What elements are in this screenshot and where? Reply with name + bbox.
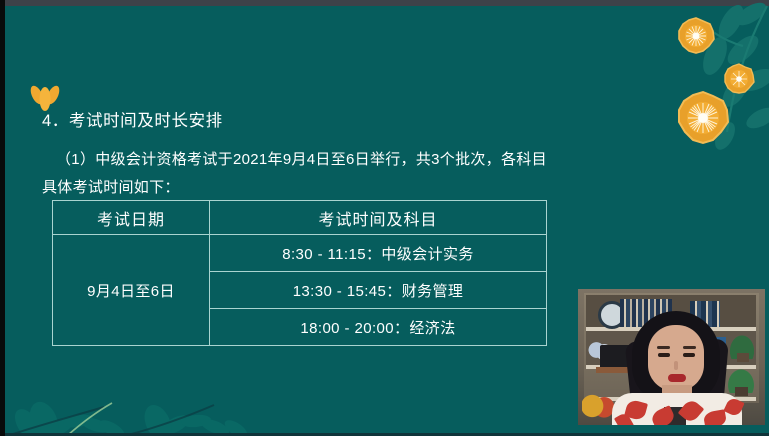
- plant-pot: [737, 353, 749, 362]
- plant-pot: [735, 387, 748, 396]
- left-chrome-strip: [0, 0, 5, 436]
- column-header-date: 考试日期: [53, 201, 210, 235]
- presenter-eye: [683, 353, 695, 357]
- presenter-lips: [668, 374, 686, 382]
- intro-paragraph: （1）中级会计资格考试于2021年9月4日至6日举行，共3个批次，各科目 具体考…: [42, 146, 602, 202]
- cell-exam-date: 9月4日至6日: [53, 235, 210, 346]
- flower-branch-icon: [639, 0, 769, 175]
- top-chrome-strip: [0, 0, 769, 6]
- presentation-slide: 4．考试时间及时长安排 （1）中级会计资格考试于2021年9月4日至6日举行，共…: [0, 0, 769, 436]
- table-header-row: 考试日期 考试时间及科目: [53, 201, 547, 235]
- presenter-video-feed[interactable]: [578, 289, 765, 425]
- fern-foliage-icon: [0, 351, 320, 436]
- paragraph-line-1: （1）中级会计资格考试于2021年9月4日至6日举行，共3个批次，各科目: [42, 146, 602, 174]
- cell-exam-schedule: 8:30 - 11:15：中级会计实务: [210, 235, 547, 272]
- cell-exam-schedule: 13:30 - 15:45：财务管理: [210, 272, 547, 309]
- paragraph-line-2: 具体考试时间如下：: [42, 174, 602, 202]
- presenter-eyebrow: [657, 346, 670, 349]
- cell-exam-schedule: 18:00 - 20:00：经济法: [210, 309, 547, 346]
- page-title: 4．考试时间及时长安排: [42, 107, 223, 131]
- exam-schedule-table: 考试日期 考试时间及科目 9月4日至6日 8:30 - 11:15：中级会计实务…: [52, 200, 547, 346]
- presenter-eyebrow: [683, 346, 696, 349]
- fruit-bowl-decor: [582, 393, 616, 419]
- presenter-nose: [674, 361, 678, 370]
- presenter-eye: [658, 353, 670, 357]
- table-row: 9月4日至6日 8:30 - 11:15：中级会计实务: [53, 235, 547, 272]
- column-header-schedule: 考试时间及科目: [210, 201, 547, 235]
